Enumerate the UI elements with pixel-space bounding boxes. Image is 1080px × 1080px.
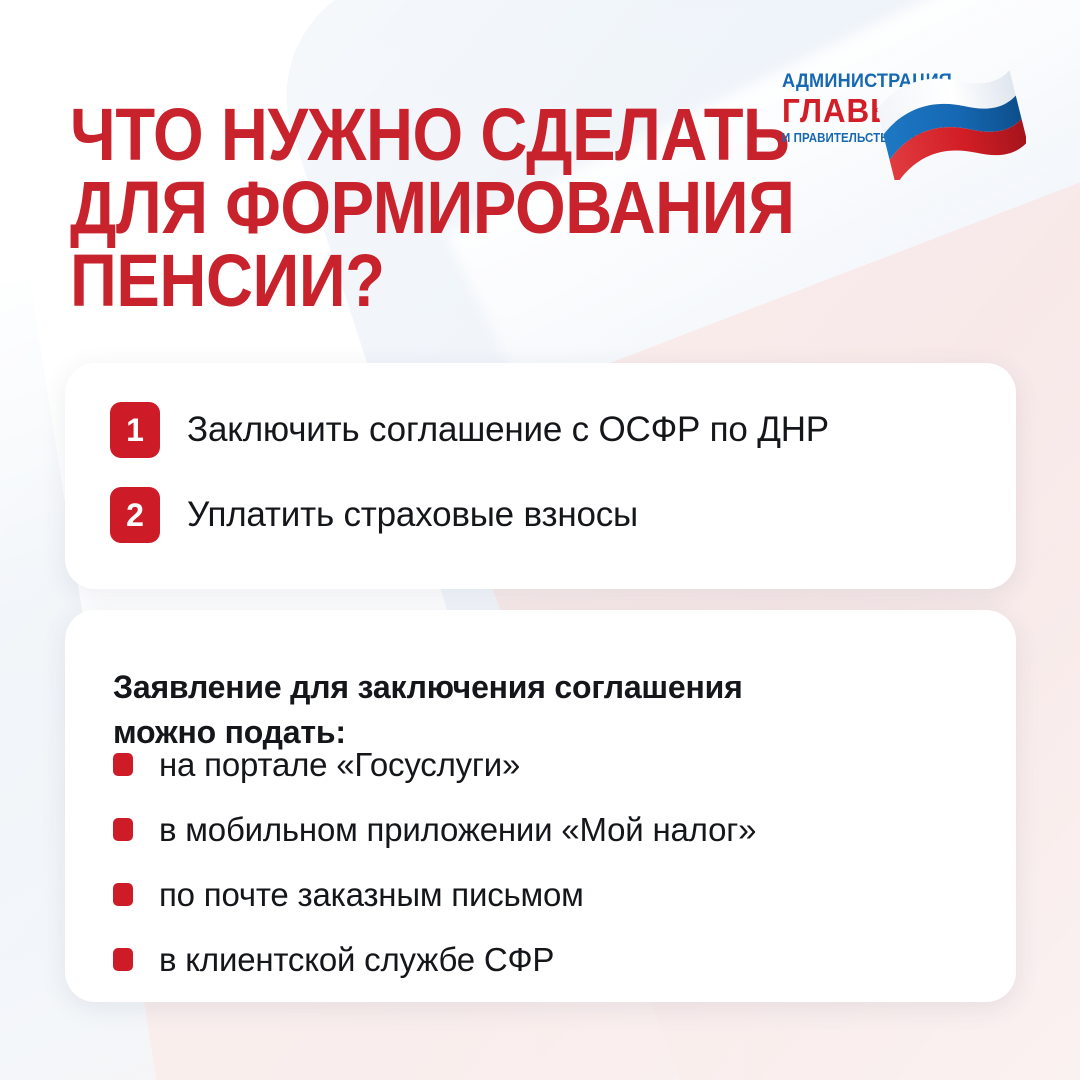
steps-card: 1 Заключить соглашение с ОСФР по ДНР 2 У… — [65, 363, 1016, 589]
square-bullet-icon — [113, 753, 133, 776]
square-bullet-icon — [113, 883, 133, 906]
administration-logo: АДМИНИСТРАЦИЯ ГЛАВЫ И ПРАВИТЕЛЬСТВА ДНР — [782, 62, 1022, 180]
page-title-line-1: ЧТО НУЖНО СДЕЛАТЬ — [70, 98, 677, 171]
page-title-line-3: ПЕНСИИ? — [70, 244, 677, 317]
infographic-poster: ЧТО НУЖНО СДЕЛАТЬ ДЛЯ ФОРМИРОВАНИЯ ПЕНСИ… — [0, 0, 1080, 1080]
list-item: в клиентской службе СФР — [113, 927, 973, 992]
step-label: Заключить соглашение с ОСФР по ДНР — [187, 410, 829, 450]
step-number-badge: 2 — [110, 487, 160, 543]
list-item-label: на портале «Госуслуги» — [159, 746, 520, 784]
square-bullet-icon — [113, 818, 133, 841]
russian-flag-wave-icon — [876, 62, 1026, 180]
submit-options-card: Заявление для заключения соглашения можн… — [65, 610, 1016, 1002]
square-bullet-icon — [113, 948, 133, 971]
submit-card-heading-line-1: Заявление для заключения соглашения — [113, 665, 943, 710]
submit-options-list: на портале «Госуслуги» в мобильном прило… — [113, 732, 973, 992]
page-title-line-2: ДЛЯ ФОРМИРОВАНИЯ — [70, 171, 677, 244]
step-row: 2 Уплатить страховые взносы — [110, 487, 638, 543]
step-label: Уплатить страховые взносы — [187, 495, 638, 535]
step-row: 1 Заключить соглашение с ОСФР по ДНР — [110, 402, 829, 458]
list-item: на портале «Госуслуги» — [113, 732, 973, 797]
list-item: в мобильном приложении «Мой налог» — [113, 797, 973, 862]
list-item-label: по почте заказным письмом — [159, 876, 584, 914]
list-item-label: в клиентской службе СФР — [159, 941, 554, 979]
step-number-badge: 1 — [110, 402, 160, 458]
list-item-label: в мобильном приложении «Мой налог» — [159, 811, 756, 849]
page-title: ЧТО НУЖНО СДЕЛАТЬ ДЛЯ ФОРМИРОВАНИЯ ПЕНСИ… — [70, 98, 677, 318]
list-item: по почте заказным письмом — [113, 862, 973, 927]
